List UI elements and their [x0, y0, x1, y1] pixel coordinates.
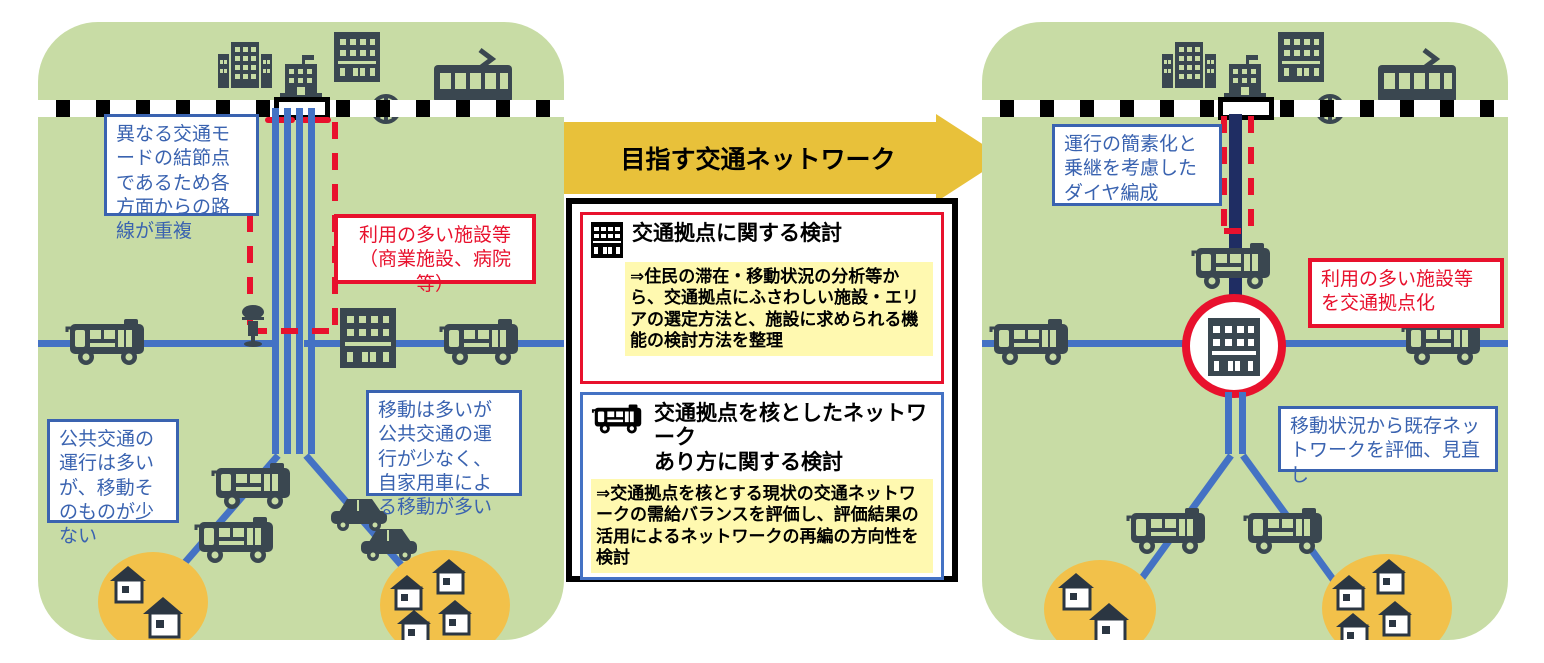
bus-icon	[591, 402, 645, 436]
station-building-icon	[277, 55, 325, 103]
road-vertical-4	[308, 108, 315, 454]
red-dashed-trunk-bottom	[1224, 228, 1252, 234]
left-callout-node: 異なる交通モードの結節点であるため各方面からの路線が重複	[104, 114, 259, 216]
bus-icon	[438, 316, 524, 368]
road-vertical-3	[296, 108, 303, 454]
left-callout-service: 公共交通の運行は多いが、移動そのものが少ない	[47, 419, 179, 523]
red-dashed-trunk-right	[1248, 116, 1254, 234]
house-icon	[1370, 556, 1416, 596]
house-icon	[1376, 598, 1422, 638]
office-buildings-icon	[218, 40, 272, 88]
house-icon	[1087, 600, 1139, 640]
road-vertical-1	[272, 108, 279, 454]
house-icon	[141, 594, 193, 640]
center-box-title: 交通拠点に関する検討	[632, 222, 842, 246]
right-callout-review: 移動状況から既存ネットワークを評価、見直し	[1278, 406, 1498, 472]
right-map-panel	[982, 22, 1508, 640]
center-box-body: ⇒交通拠点を核とする現状の交通ネットワークの需給バランスを評価し、評価結果の活用…	[591, 479, 933, 573]
bus-icon	[1125, 505, 1211, 557]
bus-stop-icon	[241, 305, 265, 347]
transport-hub-building-icon	[1208, 318, 1260, 376]
road-vertical-2	[1239, 392, 1246, 454]
house-icon	[436, 597, 482, 637]
red-route-cap-right	[301, 117, 331, 123]
left-callout-facility: 利用の多い施設等 （商業施設、病院等）	[334, 214, 536, 284]
house-icon	[430, 556, 476, 596]
transition-arrow-label: 目指す交通ネットワーク	[564, 114, 952, 202]
center-box-transport-hub: 交通拠点に関する検討 ⇒住民の滞在・移動状況の分析等から、交通拠点にふさわしい施…	[580, 212, 944, 384]
center-summary-card: 交通拠点に関する検討 ⇒住民の滞在・移動状況の分析等から、交通拠点にふさわしい施…	[566, 198, 958, 582]
transition-arrow: 目指す交通ネットワーク	[564, 114, 1004, 202]
office-buildings-icon	[1162, 40, 1216, 88]
road-vertical-2	[284, 108, 291, 454]
diagram-root: 異なる交通モードの結節点であるため各方面からの路線が重複 利用の多い施設等 （商…	[0, 0, 1544, 663]
bus-icon	[193, 514, 279, 566]
station-building-icon	[1221, 55, 1269, 103]
bus-icon	[988, 316, 1074, 368]
bus-icon	[64, 316, 150, 368]
center-box-title: 交通拠点を核としたネットワーク あり方に関する検討	[654, 402, 933, 475]
bus-icon	[1190, 240, 1276, 292]
building-icon	[591, 222, 623, 258]
house-icon	[388, 572, 434, 612]
facility-building-icon	[340, 308, 396, 368]
hospital-building-icon	[334, 32, 380, 82]
car-icon	[358, 522, 420, 562]
bus-icon	[210, 460, 296, 512]
hospital-building-icon	[1278, 32, 1324, 82]
center-box-body: ⇒住民の滞在・移動状況の分析等から、交通拠点にふさわしい施設・エリアの選定方法と…	[625, 262, 933, 356]
house-icon	[1334, 610, 1380, 640]
bus-icon	[1242, 505, 1328, 557]
center-box-network: 交通拠点を核としたネットワーク あり方に関する検討 ⇒交通拠点を核とする現状の交…	[580, 392, 944, 580]
house-icon	[395, 607, 441, 640]
right-callout-timetable: 運行の簡素化と 乗継を考慮した ダイヤ編成	[1052, 124, 1222, 206]
right-callout-hub: 利用の多い施設等 を交通拠点化	[1308, 258, 1504, 328]
road-vertical-1	[1225, 392, 1232, 454]
left-callout-car: 移動は多いが公共交通の運行が少なく、自家用車による移動が多い	[366, 390, 522, 496]
